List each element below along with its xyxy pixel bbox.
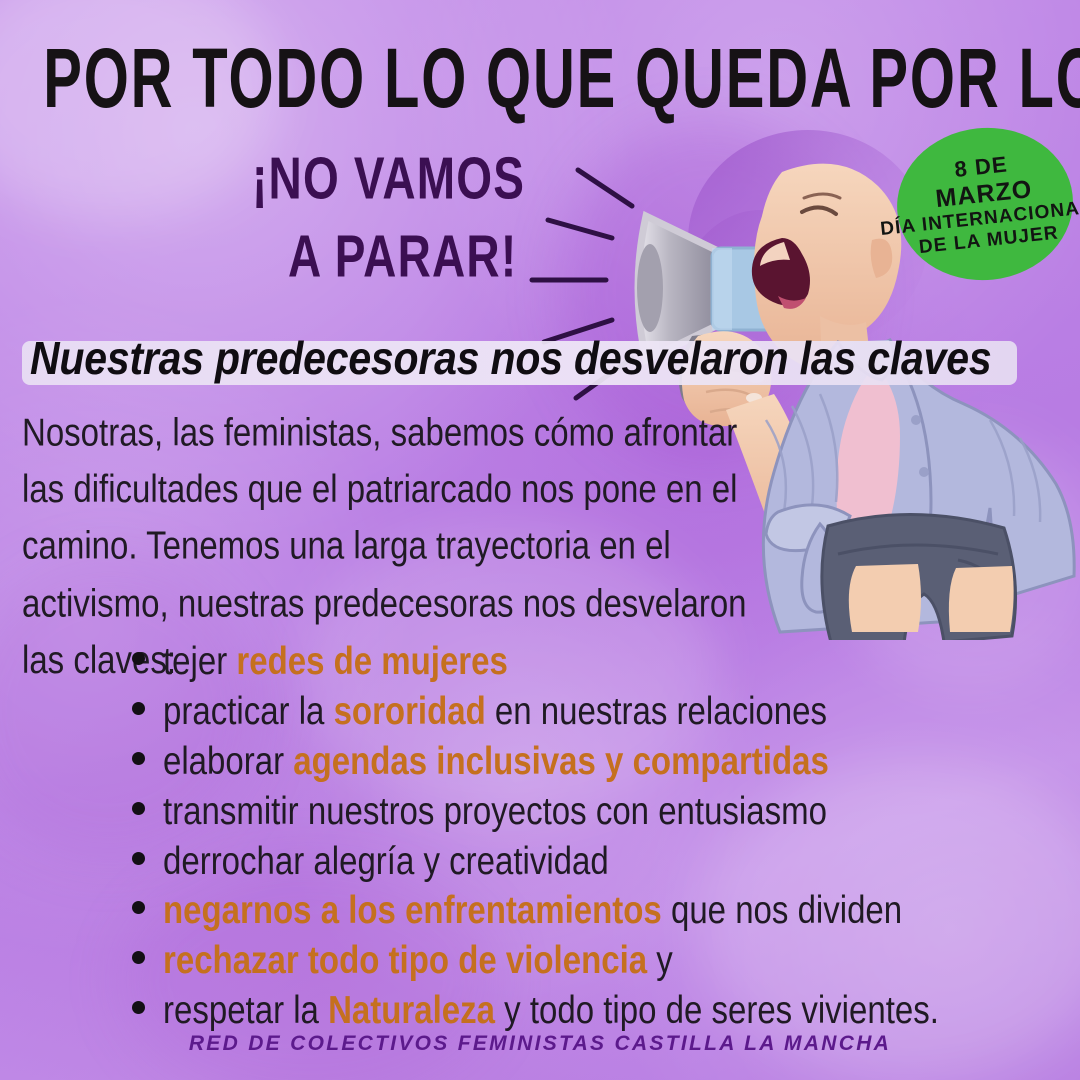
paragraph-line-2: las dificultades que el patriarcado nos …	[22, 461, 762, 518]
list-item-text-plain: derrochar alegría y creatividad	[163, 838, 609, 881]
list-item-text-plain: tejer	[163, 639, 236, 682]
list-item-text-plain: respetar la	[163, 988, 328, 1031]
list-item-text: transmitir nuestros proyectos con entusi…	[163, 786, 827, 836]
list-item-text: rechazar todo tipo de violencia y	[163, 936, 673, 986]
list-item: tejer redes de mujeres	[132, 640, 1072, 683]
list-item-text-highlight: agendas inclusivas y compartidas	[293, 738, 829, 781]
list-item-text: respetar la Naturaleza y todo tipo de se…	[163, 986, 939, 1036]
band-text: Nuestras predecesoras nos desvelaron las…	[30, 332, 1050, 386]
list-item: negarnos a los enfrentamientos que nos d…	[132, 889, 1072, 932]
bullet-dot-icon	[132, 652, 145, 665]
list-item-text: derrochar alegría y creatividad	[163, 836, 609, 886]
list-item-text-highlight: rechazar todo tipo de violencia	[163, 938, 647, 981]
list-item: rechazar todo tipo de violencia y	[132, 939, 1072, 982]
poster-canvas: POR TODO LO QUE QUEDA POR LOGRAR ¡NO VAM…	[0, 0, 1080, 1080]
list-item-text-plain: en nuestras relaciones	[486, 689, 827, 732]
list-item-text-plain: elaborar	[163, 738, 293, 781]
key-points-list: tejer redes de mujerespracticar la soror…	[132, 640, 1072, 1039]
subheadline-line-2: A PARAR!	[288, 218, 672, 296]
paragraph-line-4: activismo, nuestras predecesoras nos des…	[22, 575, 762, 632]
page-title: POR TODO LO QUE QUEDA POR LOGRAR	[43, 36, 1037, 122]
paragraph-line-3: camino. Tenemos una larga trayectoria en…	[22, 518, 762, 575]
list-item: practicar la sororidad en nuestras relac…	[132, 690, 1072, 733]
list-item-text: practicar la sororidad en nuestras relac…	[163, 686, 827, 736]
list-item: derrochar alegría y creatividad	[132, 840, 1072, 883]
subheadline-line-1: ¡NO VAMOS	[252, 144, 525, 212]
list-item-text: negarnos a los enfrentamientos que nos d…	[163, 886, 902, 936]
bullet-dot-icon	[132, 702, 145, 715]
list-item-text-plain: que nos dividen	[662, 888, 902, 931]
bullet-dot-icon	[132, 901, 145, 914]
list-item-text-highlight: sororidad	[334, 689, 486, 732]
bullet-dot-icon	[132, 802, 145, 815]
subheadline: ¡NO VAMOS A PARAR!	[252, 140, 672, 295]
list-item-text-highlight: negarnos a los enfrentamientos	[163, 888, 662, 931]
list-item-text-highlight: redes de mujeres	[236, 639, 507, 682]
bullet-dot-icon	[132, 1001, 145, 1014]
bullet-dot-icon	[132, 752, 145, 765]
list-item-text-plain: y	[647, 938, 673, 981]
paragraph-line-1: Nosotras, las feministas, sabemos cómo a…	[22, 404, 762, 461]
list-item-text: elaborar agendas inclusivas y compartida…	[163, 736, 829, 786]
list-item-text-plain: y todo tipo de seres vivientes.	[495, 988, 939, 1031]
list-item: elaborar agendas inclusivas y compartida…	[132, 740, 1072, 783]
bullet-dot-icon	[132, 852, 145, 865]
bullet-dot-icon	[132, 951, 145, 964]
list-item: respetar la Naturaleza y todo tipo de se…	[132, 989, 1072, 1032]
list-item-text-plain: practicar la	[163, 689, 334, 732]
organization-credit: RED DE COLECTIVOS FEMINISTAS CASTILLA LA…	[0, 1032, 1080, 1056]
list-item-text-highlight: Naturaleza	[328, 988, 495, 1031]
list-item-text-plain: transmitir nuestros proyectos con entusi…	[163, 788, 827, 831]
list-item-text: tejer redes de mujeres	[163, 636, 508, 686]
list-item: transmitir nuestros proyectos con entusi…	[132, 790, 1072, 833]
